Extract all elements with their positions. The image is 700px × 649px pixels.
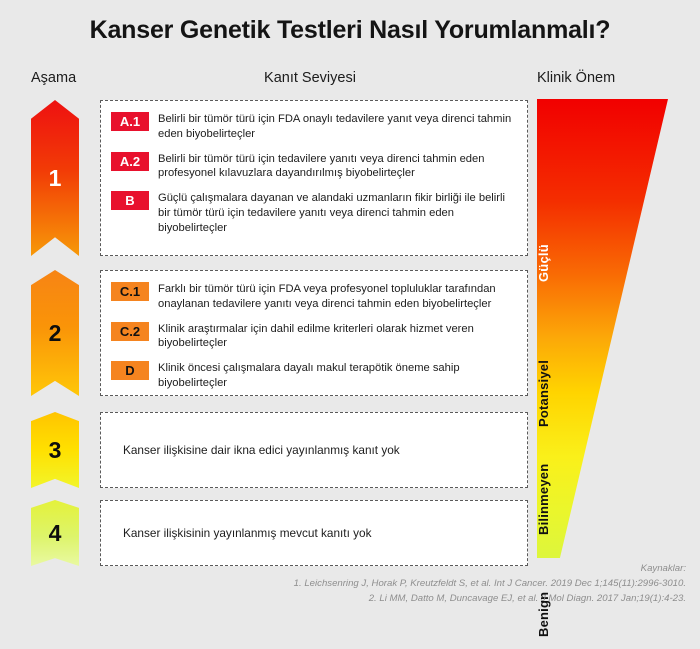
evidence-row: D Klinik öncesi çalışmalara dayalı makul…: [111, 360, 517, 391]
evidence-box-stage-4: Kanser ilişkisinin yayınlanmış mevcut ka…: [100, 500, 528, 566]
evidence-box-stage-2: C.1 Farklı bir tümör türü için FDA veya …: [100, 270, 528, 396]
evidence-row: B Güçlü çalışmalara dayanan ve alandaki …: [111, 190, 517, 235]
evidence-badge: A.2: [111, 152, 149, 171]
evidence-badge: A.1: [111, 112, 149, 131]
evidence-text: Klinik araştırmalar için dahil edilme kr…: [158, 321, 517, 352]
stage-number-1: 1: [49, 167, 62, 190]
stage-number-2: 2: [49, 322, 62, 345]
evidence-badge: D: [111, 361, 149, 380]
stage-chevron-3: 3: [31, 412, 79, 488]
source-item: 1. Leichsenring J, Horak P, Kreutzfeldt …: [126, 577, 686, 592]
stage-chevron-4: 4: [31, 500, 79, 566]
column-header-evidence-level: Kanıt Seviyesi: [90, 70, 530, 86]
evidence-text: Güçlü çalışmalara dayanan ve alandaki uz…: [158, 190, 517, 235]
evidence-row: A.1 Belirli bir tümör türü için FDA onay…: [111, 111, 517, 142]
evidence-box-stage-3: Kanser ilişkisine dair ikna edici yayınl…: [100, 412, 528, 488]
clinical-importance-wedge: Güçlü Potansiyel Bilinmeyen Benign: [537, 99, 668, 558]
evidence-row: C.2 Klinik araştırmalar için dahil edilm…: [111, 321, 517, 352]
evidence-text: Belirli bir tümör türü için FDA onaylı t…: [158, 111, 517, 142]
evidence-row: C.1 Farklı bir tümör türü için FDA veya …: [111, 281, 517, 312]
evidence-badge: B: [111, 191, 149, 210]
evidence-text: Belirli bir tümör türü için tedavilere y…: [158, 151, 517, 182]
stage-number-3: 3: [49, 439, 62, 462]
sources-heading: Kaynaklar:: [126, 562, 686, 577]
evidence-row: A.2 Belirli bir tümör türü için tedavile…: [111, 151, 517, 182]
evidence-text: Kanser ilişkisinin yayınlanmış mevcut ka…: [111, 525, 371, 542]
column-header-clinical-importance: Klinik Önem: [537, 70, 687, 86]
stage-chevron-1: 1: [31, 100, 79, 256]
wedge-label-text: Güçlü: [536, 244, 551, 294]
evidence-text: Klinik öncesi çalışmalara dayalı makul t…: [158, 360, 517, 391]
evidence-badge: C.1: [111, 282, 149, 301]
source-item: 2. Li MM, Datto M, Duncavage EJ, et al. …: [126, 592, 686, 607]
page-title: Kanser Genetik Testleri Nasıl Yorumlanma…: [0, 16, 700, 45]
evidence-text: Kanser ilişkisine dair ikna edici yayınl…: [111, 442, 400, 459]
stage-chevron-2: 2: [31, 270, 79, 396]
wedge-label-strong: Güçlü: [536, 154, 551, 294]
evidence-box-stage-1: A.1 Belirli bir tümör türü için FDA onay…: [100, 100, 528, 256]
evidence-badge: C.2: [111, 322, 149, 341]
stage-number-4: 4: [49, 522, 62, 545]
sources-footer: Kaynaklar: 1. Leichsenring J, Horak P, K…: [126, 562, 686, 607]
evidence-text: Farklı bir tümör türü için FDA veya prof…: [158, 281, 517, 312]
wedge-gradient-shape: [537, 99, 668, 558]
